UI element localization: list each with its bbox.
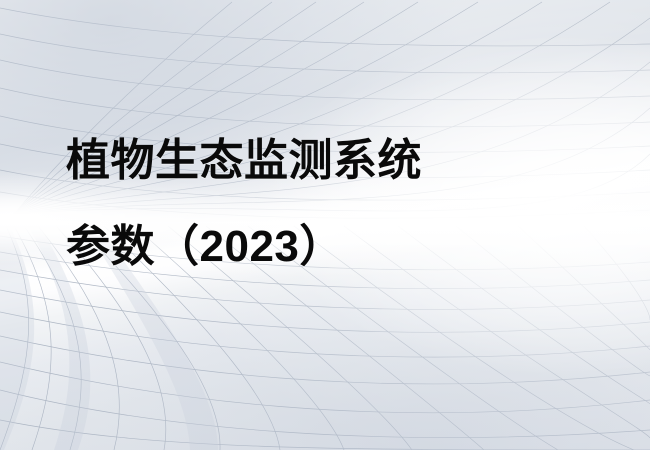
title-slide: 植物生态监测系统 参数（2023） xyxy=(0,0,650,450)
title-block: 植物生态监测系统 参数（2023） xyxy=(66,118,626,290)
title-line-2: 参数（2023） xyxy=(66,204,626,290)
title-line-1: 植物生态监测系统 xyxy=(66,118,626,204)
